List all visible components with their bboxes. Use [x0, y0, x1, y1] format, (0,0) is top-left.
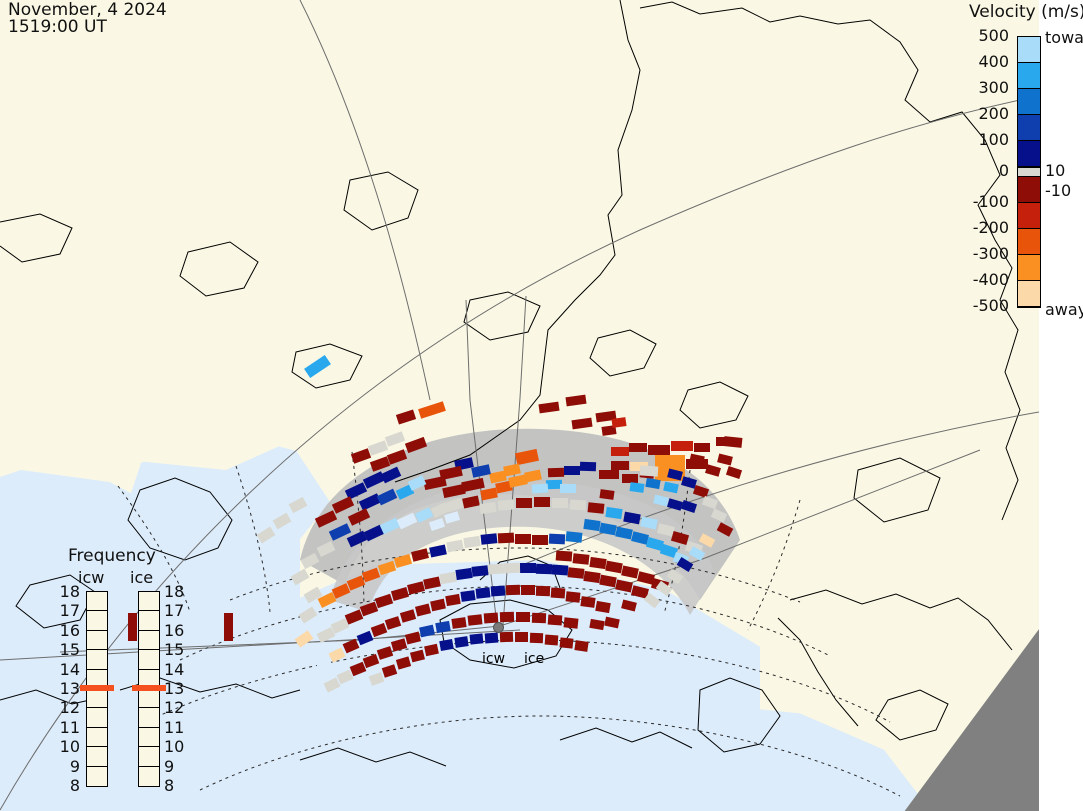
velocity-cell	[530, 633, 543, 643]
velocity-cell	[564, 466, 580, 475]
timestamp-time: 1519:00 UT	[8, 19, 167, 36]
velocity-cell	[532, 535, 548, 545]
frequency-tick-label: 15	[54, 640, 80, 659]
frequency-segment	[87, 592, 107, 611]
velocity-cell	[451, 617, 466, 629]
velocity-tick-label: 200	[978, 104, 1009, 123]
velocity-band	[1018, 255, 1040, 281]
velocity-colorbar-gradient[interactable]	[1017, 36, 1041, 308]
velocity-band	[1018, 115, 1040, 141]
velocity-cell	[532, 613, 546, 623]
frequency-tick-label: 15	[164, 640, 184, 659]
radar-site-marker[interactable]	[493, 622, 504, 633]
velocity-cell	[611, 461, 629, 470]
velocity-cell	[472, 565, 489, 577]
frequency-marker-icw	[80, 685, 114, 691]
superdarn-velocity-map: icw ice November, 4 2024 1519:00 UT Freq…	[0, 0, 1083, 811]
velocity-tick-label: -100	[973, 192, 1009, 211]
frequency-tick-label: 12	[164, 698, 184, 717]
frequency-segment	[139, 728, 159, 747]
velocity-colorbar: Velocity (m/s) 5004003002001000-100-200-…	[955, 0, 1083, 330]
frequency-column-header-ice: ice	[130, 568, 153, 587]
velocity-tick-label: -400	[973, 270, 1009, 289]
frequency-segment	[139, 708, 159, 727]
frequency-tick-label: 8	[54, 776, 80, 795]
velocity-band	[1018, 203, 1040, 229]
velocity-cell	[568, 567, 585, 579]
velocity-cell	[534, 497, 550, 507]
velocity-band	[1018, 63, 1040, 89]
velocity-cell	[500, 632, 513, 642]
velocity-cell	[648, 445, 670, 455]
velocity-cell	[504, 563, 520, 574]
site-label-ice: ice	[524, 651, 544, 667]
frequency-segment	[139, 689, 159, 708]
frequency-segment	[139, 650, 159, 669]
frequency-tick-label: 16	[164, 621, 184, 640]
velocity-tick-label: 300	[978, 78, 1009, 97]
velocity-tick-label: -300	[973, 244, 1009, 263]
frequency-tick-label: 18	[54, 582, 80, 601]
velocity-cell	[611, 417, 626, 428]
frequency-tick-label: 18	[164, 582, 184, 601]
frequency-segment	[87, 689, 107, 708]
frequency-tick-label: 16	[54, 621, 80, 640]
frequency-segment	[139, 767, 159, 786]
velocity-cell	[599, 489, 614, 500]
velocity-cell	[566, 531, 583, 543]
velocity-cell	[520, 563, 536, 573]
velocity-cell	[516, 498, 532, 508]
velocity-cell	[506, 585, 520, 595]
velocity-cell	[556, 550, 573, 561]
velocity-cell	[589, 557, 606, 569]
velocity-cell	[694, 443, 710, 452]
velocity-cell	[580, 462, 596, 472]
frequency-tick-label: 10	[164, 737, 184, 756]
frequency-segment	[139, 611, 159, 630]
velocity-cell	[516, 612, 530, 622]
velocity-cell	[536, 586, 550, 596]
frequency-tick-label: 17	[164, 601, 184, 620]
velocity-band	[1018, 37, 1040, 63]
velocity-cell	[545, 635, 559, 646]
velocity-tick-label: 400	[978, 52, 1009, 71]
frequency-tick-label: 13	[164, 679, 184, 698]
frequency-segment	[87, 767, 107, 786]
velocity-cell	[548, 468, 564, 478]
frequency-segment	[87, 650, 107, 669]
velocity-cell	[521, 585, 535, 595]
frequency-tick-label: 17	[54, 601, 80, 620]
velocity-cell	[629, 482, 644, 493]
velocity-tick-label: 100	[978, 130, 1009, 149]
frequency-tick-label: 9	[164, 757, 174, 776]
velocity-label-groundscatter-upper: 10	[1045, 161, 1065, 180]
frequency-tick-label: 13	[54, 679, 80, 698]
frequency-segment	[87, 611, 107, 630]
frequency-tick-label: 12	[54, 698, 80, 717]
velocity-colorbar-title: Velocity (m/s)	[969, 2, 1083, 22]
velocity-band	[1018, 281, 1040, 307]
velocity-cell	[724, 436, 743, 448]
frequency-segment	[139, 592, 159, 611]
frequency-legend: Frequency icw ice 18171615141312111098 1…	[52, 546, 242, 796]
frequency-tick-label: 14	[164, 660, 184, 679]
velocity-cell	[470, 633, 484, 644]
velocity-cell	[498, 533, 515, 544]
frequency-tick-label: 8	[164, 776, 174, 795]
frequency-tick-label: 9	[54, 757, 80, 776]
velocity-cell	[573, 553, 590, 565]
velocity-cell	[485, 633, 499, 644]
frequency-segment	[87, 728, 107, 747]
velocity-band	[1018, 141, 1040, 167]
velocity-label-away: away	[1045, 300, 1083, 319]
velocity-cell	[611, 447, 629, 456]
frequency-tick-label: 11	[164, 718, 184, 737]
velocity-cell	[460, 590, 475, 602]
velocity-cell	[491, 586, 506, 597]
site-label-icw: icw	[482, 651, 505, 667]
velocity-cell	[515, 534, 531, 544]
velocity-cell	[671, 441, 693, 451]
velocity-cell	[552, 564, 569, 575]
frequency-tick-label: 10	[54, 737, 80, 756]
velocity-cell	[481, 533, 498, 545]
frequency-segment	[139, 747, 159, 766]
timestamp: November, 4 2024 1519:00 UT	[8, 2, 167, 36]
frequency-tick-label: 11	[54, 718, 80, 737]
velocity-cell	[498, 499, 515, 510]
velocity-cell	[580, 596, 595, 608]
frequency-tick-label: 14	[54, 660, 80, 679]
velocity-cell	[566, 591, 581, 602]
velocity-cell	[549, 534, 566, 545]
velocity-cell	[552, 498, 568, 508]
velocity-cell	[583, 571, 600, 583]
velocity-cell	[605, 507, 622, 519]
velocity-cell	[548, 615, 563, 626]
velocity-tick-label: 500	[978, 26, 1009, 45]
velocity-label-toward: toward	[1045, 28, 1083, 47]
velocity-cell	[570, 500, 587, 511]
velocity-cell	[599, 470, 619, 479]
velocity-cell	[564, 617, 579, 628]
frequency-segment	[87, 747, 107, 766]
velocity-band	[1018, 229, 1040, 255]
velocity-tick-label: 0	[999, 161, 1009, 180]
velocity-cell	[532, 483, 549, 493]
frequency-segment	[139, 631, 159, 650]
velocity-band	[1018, 89, 1040, 115]
velocity-cell	[640, 465, 659, 476]
velocity-cell	[588, 502, 605, 514]
frequency-marker-ice	[132, 685, 166, 691]
velocity-cell	[476, 587, 491, 598]
velocity-tick-label: -200	[973, 218, 1009, 237]
velocity-label-groundscatter-lower: -10	[1045, 181, 1071, 200]
velocity-cell	[500, 612, 514, 622]
velocity-cell	[454, 636, 468, 648]
frequency-segment	[87, 708, 107, 727]
velocity-cell	[560, 637, 574, 648]
velocity-band	[1018, 167, 1040, 177]
velocity-cell	[629, 443, 647, 452]
frequency-segment	[87, 631, 107, 650]
velocity-tick-label: -500	[973, 296, 1009, 315]
velocity-cell	[536, 564, 552, 575]
frequency-column-header-icw: icw	[78, 568, 104, 587]
frequency-legend-title: Frequency	[68, 546, 156, 566]
velocity-cell	[551, 588, 566, 599]
map-canvas[interactable]: icw ice November, 4 2024 1519:00 UT Freq…	[0, 0, 1039, 811]
velocity-cell	[515, 632, 528, 642]
velocity-cell	[574, 640, 588, 652]
velocity-cell	[583, 519, 600, 531]
velocity-cell	[488, 563, 505, 574]
velocity-cell	[560, 484, 576, 493]
velocity-cell	[468, 614, 483, 625]
velocity-band	[1018, 177, 1040, 203]
